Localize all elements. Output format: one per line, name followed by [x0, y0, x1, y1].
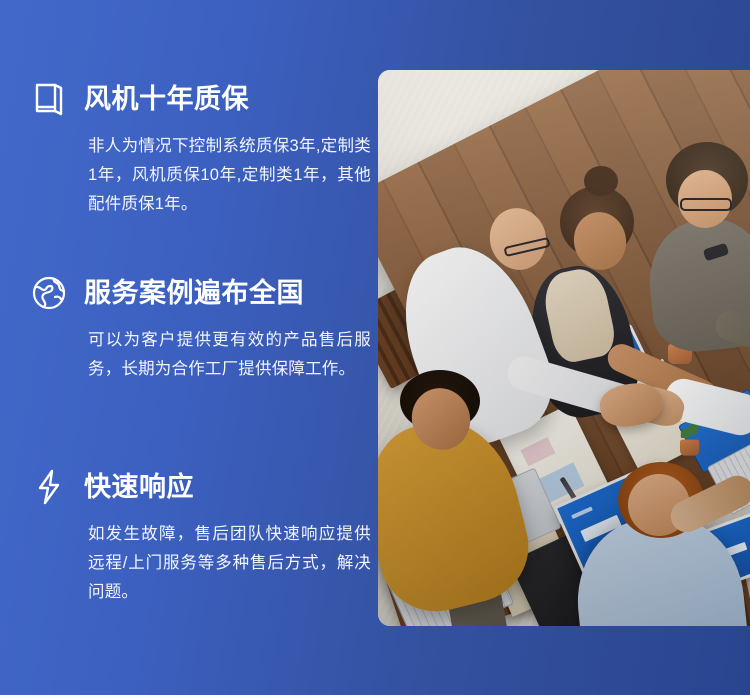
feature-item-nationwide-cases: 服务案例遍布全国 可以为客户提供更有效的产品售后服务，长期为合作工厂提供保障工作…: [28, 272, 373, 384]
feature-item-warranty: 风机十年质保 非人为情况下控制系统质保3年,定制类1年，风机质保10年,定制类1…: [28, 78, 373, 219]
feature-header: 风机十年质保: [28, 78, 373, 120]
feature-description: 可以为客户提供更有效的产品售后服务，长期为合作工厂提供保障工作。: [88, 326, 371, 384]
feature-item-fast-response: 快速响应 如发生故障，售后团队快速响应提供远程/上门服务等多种售后方式，解决问题…: [28, 466, 373, 607]
globe-icon: [28, 272, 70, 314]
feature-title: 服务案例遍布全国: [84, 277, 304, 309]
feature-description: 非人为情况下控制系统质保3年,定制类1年，风机质保10年,定制类1年，其他配件质…: [88, 132, 371, 219]
feature-title: 快速响应: [84, 471, 194, 503]
service-promise-banner: 风机十年质保 非人为情况下控制系统质保3年,定制类1年，风机质保10年,定制类1…: [0, 0, 750, 695]
lightning-bolt-icon: [28, 466, 70, 508]
team-meeting-photo: [378, 70, 750, 626]
feature-title: 风机十年质保: [84, 83, 249, 115]
feature-header: 服务案例遍布全国: [28, 272, 373, 314]
feature-list: 风机十年质保 非人为情况下控制系统质保3年,定制类1年，风机质保10年,定制类1…: [0, 0, 380, 695]
book-icon: [28, 78, 70, 120]
feature-header: 快速响应: [28, 466, 373, 508]
feature-description: 如发生故障，售后团队快速响应提供远程/上门服务等多种售后方式，解决问题。: [88, 520, 371, 607]
